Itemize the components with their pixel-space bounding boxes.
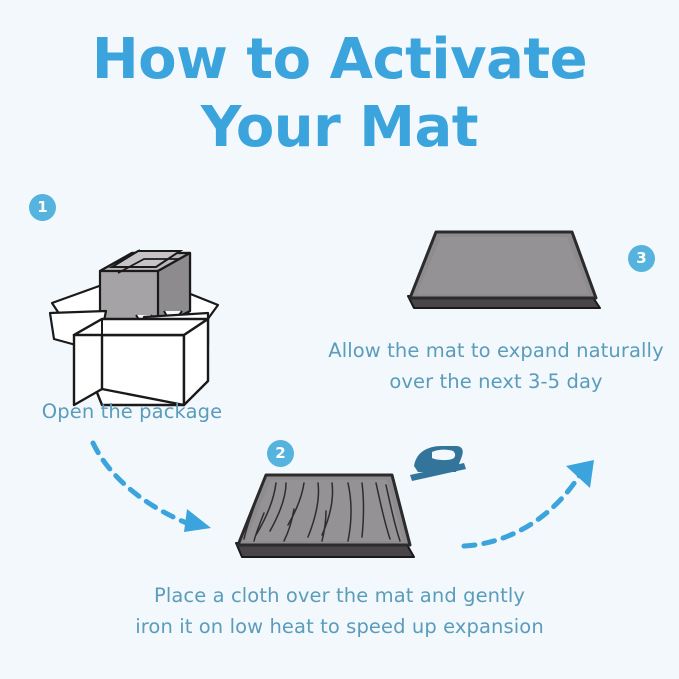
page-title: How to Activate Your Mat <box>0 26 679 163</box>
step-2-caption: Place a cloth over the mat and gently ir… <box>78 580 601 642</box>
iron-icon <box>398 438 470 496</box>
step-badge-1: 1 <box>29 194 56 221</box>
title-line-1: How to Activate <box>0 26 679 94</box>
step-3-caption-line-1: Allow the mat to expand naturally <box>313 335 679 366</box>
step-2-caption-line-2: iron it on low heat to speed up expansio… <box>78 611 601 642</box>
step-2-caption-line-1: Place a cloth over the mat and gently <box>78 580 601 611</box>
title-line-2: Your Mat <box>0 94 679 162</box>
flat-mat-icon <box>400 220 620 320</box>
arrow-step2-to-step3-icon <box>458 448 608 560</box>
step-1-caption-line-1: Open the package <box>10 396 254 427</box>
step-badge-3: 3 <box>628 245 655 272</box>
infographic-canvas: How to Activate Your Mat 1 <box>0 0 679 679</box>
wrinkled-mat-icon <box>230 465 430 570</box>
step-3-caption-line-2: over the next 3-5 day <box>313 366 679 397</box>
open-box-icon <box>40 215 230 410</box>
step-badge-2: 2 <box>267 440 294 467</box>
step-3-caption: Allow the mat to expand naturally over t… <box>313 335 679 397</box>
arrow-step1-to-step2-icon <box>85 435 240 547</box>
step-1-caption: Open the package <box>10 396 254 427</box>
